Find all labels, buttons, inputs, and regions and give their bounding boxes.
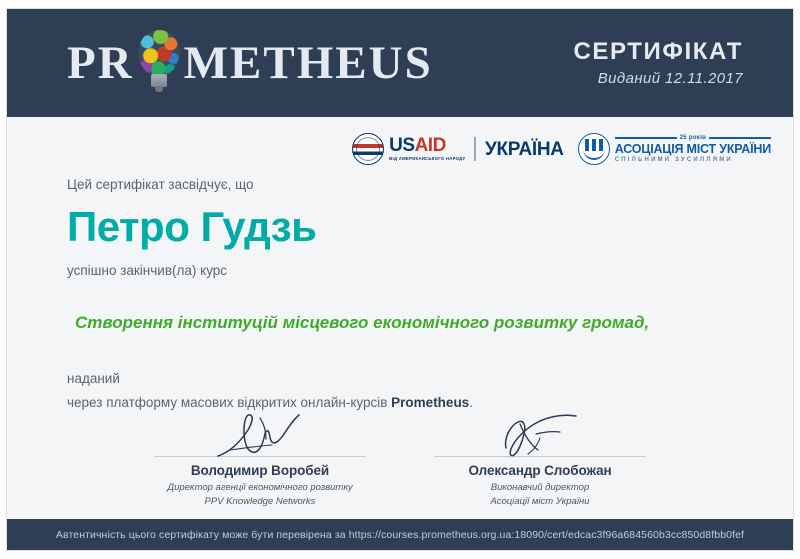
amu-motto: СПІЛЬНИМИ ЗУСИЛЛЯМИ (615, 157, 771, 163)
handwritten-signature-icon (426, 412, 654, 456)
amu-rule-right (709, 137, 771, 139)
amu-logo: 25 років АСОЦІАЦІЯ МІСТ УКРАЇНИ СПІЛЬНИМ… (578, 133, 771, 165)
certificate-footer: Автентичність цього сертифікату може бут… (7, 519, 793, 550)
handwritten-signature-icon (146, 412, 374, 456)
usaid-logo: USAID ВІД АМЕРИКАНСЬКОГО НАРОДУ УКРАЇНА (352, 133, 564, 165)
usaid-word-us: US (389, 135, 414, 156)
lightbulb-tip (155, 86, 163, 92)
usaid-tagline: ВІД АМЕРИКАНСЬКОГО НАРОДУ (389, 157, 465, 161)
amu-wordmark: 25 років АСОЦІАЦІЯ МІСТ УКРАЇНИ СПІЛЬНИМ… (615, 135, 771, 164)
course-title: Створення інституцій місцевого економічн… (75, 312, 753, 335)
signatory-role-line1: Директор агенції економічного розвитку (146, 481, 374, 495)
amu-name: АСОЦІАЦІЯ МІСТ УКРАЇНИ (615, 143, 771, 156)
intro-text: Цей сертифікат засвідчує, що (67, 175, 753, 195)
platform-text: через платформу масових відкритих онлайн… (67, 393, 753, 413)
amu-anniversary-row: 25 років (615, 135, 771, 141)
signatory-name: Олександр Слобожан (426, 463, 654, 478)
amu-seal-icon (578, 133, 610, 165)
signatory-name: Володимир Воробей (146, 463, 374, 478)
certificate-page: PR METHEUS СЕРТИФІКАТ Виданий 12.11.2017 (0, 0, 800, 559)
signature-block-slobozhan: Олександр Слобожан Виконавчий директор А… (426, 412, 654, 509)
certificate-header: PR METHEUS СЕРТИФІКАТ Виданий 12.11.2017 (7, 9, 793, 117)
wordmark-suffix: METHEUS (184, 40, 433, 87)
certificate-card: PR METHEUS СЕРТИФІКАТ Виданий 12.11.2017 (6, 8, 794, 551)
certificate-content: Цей сертифікат засвідчує, що Петро Гудзь… (67, 175, 753, 413)
usaid-divider (474, 137, 476, 161)
signatory-role-line1: Виконавчий директор (426, 481, 654, 495)
signature-block-vorobei: Володимир Воробей Директор агенції еконо… (146, 412, 374, 509)
granted-text: наданий (67, 369, 753, 389)
verification-text: Автентичність цього сертифікату може бут… (56, 529, 744, 541)
platform-name: Prometheus (391, 395, 469, 410)
platform-prefix: через платформу масових відкритих онлайн… (67, 395, 391, 410)
sponsor-logos: USAID ВІД АМЕРИКАНСЬКОГО НАРОДУ УКРАЇНА … (352, 133, 771, 165)
wordmark-prefix: PR (67, 40, 134, 87)
usaid-wordmark: USAID ВІД АМЕРИКАНСЬКОГО НАРОДУ (389, 136, 465, 161)
usaid-word-aid: AID (415, 135, 446, 156)
lightbulb-glass (138, 30, 180, 76)
signatory-role-line2: Асоціації міст України (426, 495, 654, 509)
certificate-body: USAID ВІД АМЕРИКАНСЬКОГО НАРОДУ УКРАЇНА … (7, 117, 793, 519)
certificate-title-block: СЕРТИФІКАТ Виданий 12.11.2017 (573, 39, 771, 86)
amu-rule-left (615, 137, 677, 139)
platform-suffix: . (469, 395, 473, 410)
amu-anniversary-label: 25 років (680, 135, 706, 141)
signatory-role-line2: PPV Knowledge Networks (146, 495, 374, 509)
signature-row: Володимир Воробей Директор агенції еконо… (7, 412, 793, 509)
certificate-title: СЕРТИФІКАТ (573, 39, 743, 65)
lightbulb-icon (136, 30, 182, 96)
prometheus-wordmark: PR METHEUS (67, 30, 433, 96)
certificate-issue-date: Виданий 12.11.2017 (573, 70, 743, 87)
recipient-name: Петро Гудзь (67, 205, 753, 249)
prometheus-logo: PR METHEUS (67, 9, 433, 117)
usaid-word: USAID (389, 135, 446, 156)
usaid-seal-icon (352, 133, 384, 165)
completion-text: успішно закінчив(ла) курс (67, 261, 753, 281)
usaid-country-label: УКРАЇНА (485, 140, 564, 159)
